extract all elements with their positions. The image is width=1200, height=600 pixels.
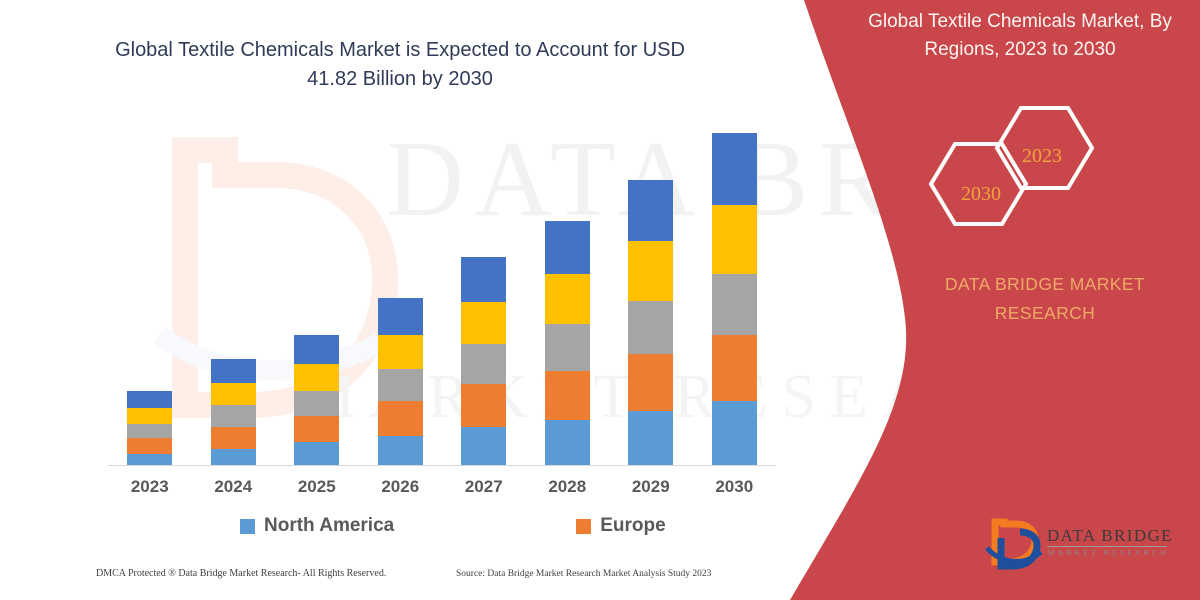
bar-segment — [294, 442, 339, 465]
bar-segment — [211, 405, 256, 426]
stacked-bar — [211, 359, 256, 465]
chart-legend: North America Europe — [140, 512, 700, 540]
bar-segment — [712, 274, 757, 335]
page-title: Global Textile Chemicals Market is Expec… — [90, 36, 710, 94]
bar-segment — [211, 359, 256, 383]
bar-segment — [127, 391, 172, 408]
stacked-bar-group — [108, 120, 776, 465]
bar-segment — [378, 401, 423, 436]
bar-segment — [712, 401, 757, 465]
x-axis-tick-labels: 20232024202520262027202820292030 — [108, 474, 776, 500]
stacked-bar — [127, 391, 172, 465]
bar-segment — [378, 436, 423, 465]
hex-label-2030: 2030 — [961, 183, 1001, 206]
x-axis-label: 2030 — [712, 477, 757, 497]
stacked-bar — [712, 133, 757, 465]
legend-item-europe[interactable]: Europe — [576, 515, 665, 537]
x-axis-label: 2027 — [461, 477, 506, 497]
bar-segment — [294, 391, 339, 416]
x-axis-label: 2025 — [294, 477, 339, 497]
stacked-bar — [628, 180, 673, 465]
stacked-bar — [461, 257, 506, 465]
bar-segment — [211, 427, 256, 450]
source-note: Source: Data Bridge Market Research Mark… — [456, 569, 711, 579]
bar-segment — [294, 335, 339, 364]
bar-segment — [378, 298, 423, 335]
stacked-bar — [378, 298, 423, 465]
bar-segment — [712, 335, 757, 401]
bar-segment — [461, 427, 506, 465]
legend-item-north-america[interactable]: North America — [240, 515, 394, 537]
bar-segment — [628, 411, 673, 465]
logo-tagline: MARKET RESEARCH — [1048, 548, 1169, 557]
bar-segment — [628, 301, 673, 354]
x-axis-line — [108, 465, 776, 466]
x-axis-label: 2023 — [127, 477, 172, 497]
bar-segment — [294, 364, 339, 391]
legend-label-north-america: North America — [264, 515, 394, 537]
bar-segment — [127, 408, 172, 424]
legend-swatch-north-america — [240, 519, 255, 534]
logo-divider — [1047, 546, 1167, 547]
bar-segment — [378, 335, 423, 370]
bar-segment — [545, 324, 590, 370]
bar-segment — [211, 383, 256, 406]
bar-segment — [461, 384, 506, 426]
bar-segment — [378, 369, 423, 401]
bar-segment — [545, 420, 590, 465]
bar-segment — [545, 221, 590, 274]
panel-brand-text: DATA BRIDGE MARKET RESEARCH — [915, 270, 1175, 328]
bar-segment — [545, 274, 590, 324]
dmca-notice: DMCA Protected ® Data Bridge Market Rese… — [96, 568, 386, 579]
stacked-bar — [294, 335, 339, 465]
bar-segment — [127, 424, 172, 439]
logo-wordmark: DATA BRIDGE — [1047, 526, 1173, 546]
bar-segment — [461, 257, 506, 302]
bar-segment — [127, 454, 172, 465]
hexagon-badges: 2023 2030 — [925, 104, 1115, 229]
bar-segment — [127, 438, 172, 454]
x-axis-label: 2026 — [378, 477, 423, 497]
x-axis-label: 2028 — [545, 477, 590, 497]
hexagon-outline-icon — [925, 104, 1115, 229]
bar-segment — [628, 180, 673, 241]
legend-swatch-europe — [576, 519, 591, 534]
bar-segment — [461, 302, 506, 344]
bar-segment — [628, 241, 673, 301]
x-axis-label: 2024 — [211, 477, 256, 497]
bar-segment — [628, 354, 673, 411]
bar-segment — [294, 416, 339, 443]
bar-segment — [712, 205, 757, 274]
legend-label-europe: Europe — [600, 515, 665, 537]
hex-label-2023: 2023 — [1022, 145, 1062, 168]
bar-segment — [712, 133, 757, 205]
data-bridge-logo[interactable]: DATA BRIDGE MARKET RESEARCH — [985, 518, 1185, 576]
stacked-bar — [545, 221, 590, 465]
logo-b-mark-icon — [985, 518, 1043, 570]
chart-plot-area — [108, 120, 776, 466]
infographic-canvas: DATA BRIDGE MARKET RESEARCH Global Texti… — [0, 0, 1200, 600]
panel-heading: Global Textile Chemicals Market, By Regi… — [845, 8, 1195, 64]
bar-segment — [211, 449, 256, 465]
bar-segment — [461, 344, 506, 384]
bar-segment — [545, 371, 590, 420]
x-axis-label: 2029 — [628, 477, 673, 497]
